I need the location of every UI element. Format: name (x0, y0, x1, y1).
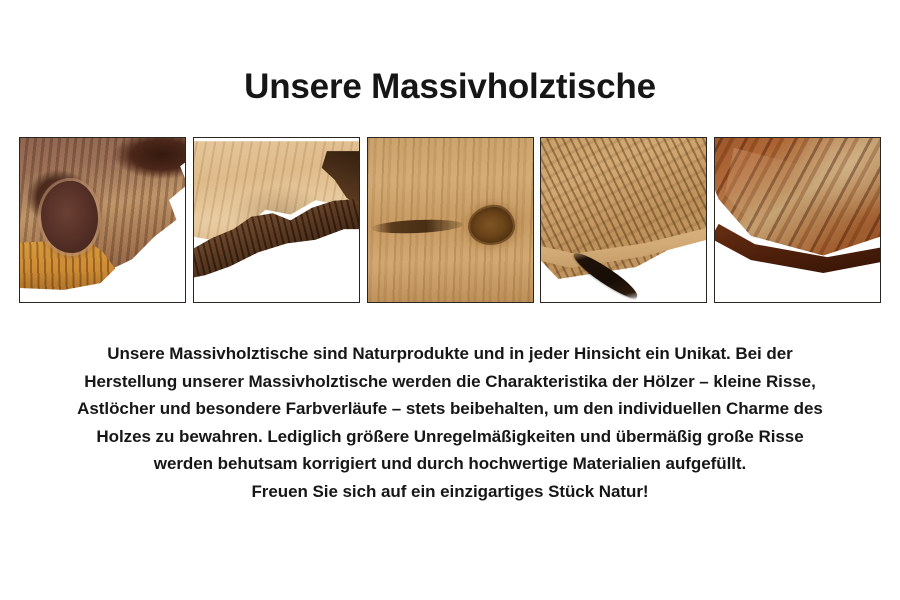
gallery-photo-1 (19, 137, 186, 303)
gallery-photo-5 (714, 137, 881, 303)
burl-knot-shape (41, 181, 97, 253)
infographic-page: Unsere Massivholztische (0, 0, 900, 600)
description-line-5: werden behutsam korrigiert und durch hoc… (12, 450, 888, 478)
wood-grain-closeup-image (368, 138, 533, 302)
description-line-1: Unsere Massivholztische sind Naturproduk… (12, 340, 888, 368)
photo-gallery (19, 137, 881, 303)
rough-sawn-board-image (541, 138, 706, 302)
description-paragraph: Unsere Massivholztische sind Naturproduk… (12, 340, 888, 505)
acacia-live-edge-image (194, 138, 359, 302)
sheesham-tabletop-image (715, 138, 880, 302)
gallery-photo-3 (367, 137, 534, 303)
wood-slab-knot-image (20, 138, 185, 302)
description-line-2: Herstellung unserer Massivholztische wer… (12, 368, 888, 396)
description-line-4: Holzes zu bewahren. Lediglich größere Un… (12, 423, 888, 451)
description-line-6: Freuen Sie sich auf ein einzigartiges St… (12, 478, 888, 506)
description-line-3: Astlöcher und besondere Farbverläufe – s… (12, 395, 888, 423)
gallery-photo-4 (540, 137, 707, 303)
gallery-photo-2 (193, 137, 360, 303)
page-title: Unsere Massivholztische (0, 66, 900, 108)
